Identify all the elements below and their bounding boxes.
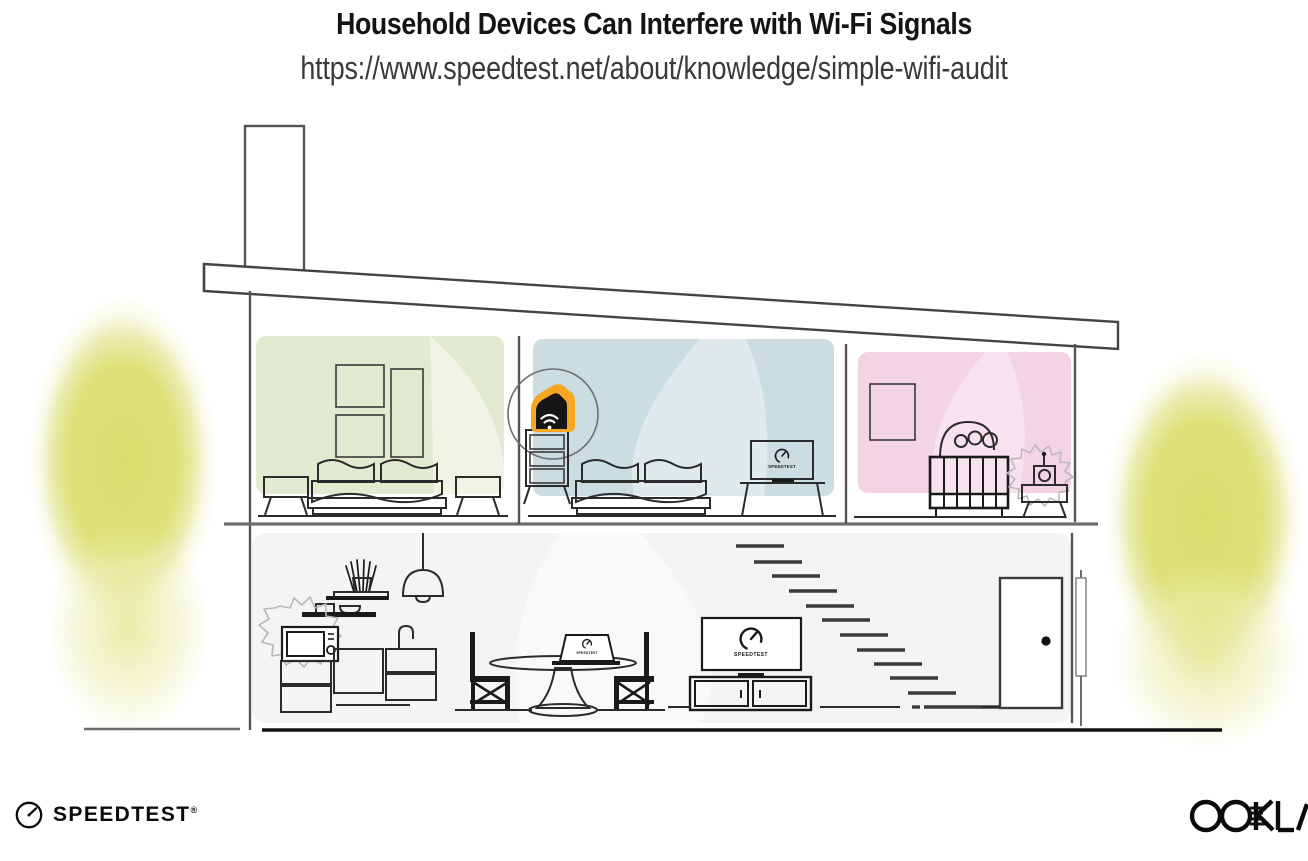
bedroom-tv-screen-label: SPEEDTEST: [768, 464, 796, 469]
registered-mark: ®: [190, 805, 197, 815]
laptop-screen-label: SPEEDTEST: [576, 651, 598, 655]
door-knob-icon: [1041, 636, 1050, 645]
wifi-dot: [548, 426, 552, 430]
house-cutaway-illustration: SPEEDTEST: [0, 0, 1308, 861]
infographic-canvas: Household Devices Can Interfere with Wi-…: [0, 0, 1308, 861]
living-tv-screen-label: SPEEDTEST: [734, 652, 768, 658]
living-room-tv: SPEEDTEST: [702, 618, 801, 676]
speedtest-logo: SPEEDTEST®: [14, 800, 197, 830]
microwave: [282, 627, 338, 661]
downspout: [1076, 570, 1086, 726]
speedtest-gauge-icon: [14, 800, 44, 830]
ookla-logo: [1186, 795, 1308, 837]
chimney: [245, 126, 304, 281]
ookla-wordmark-icon: [1186, 795, 1308, 837]
front-door[interactable]: [1000, 578, 1062, 708]
speedtest-wordmark: SPEEDTEST®: [53, 803, 197, 827]
